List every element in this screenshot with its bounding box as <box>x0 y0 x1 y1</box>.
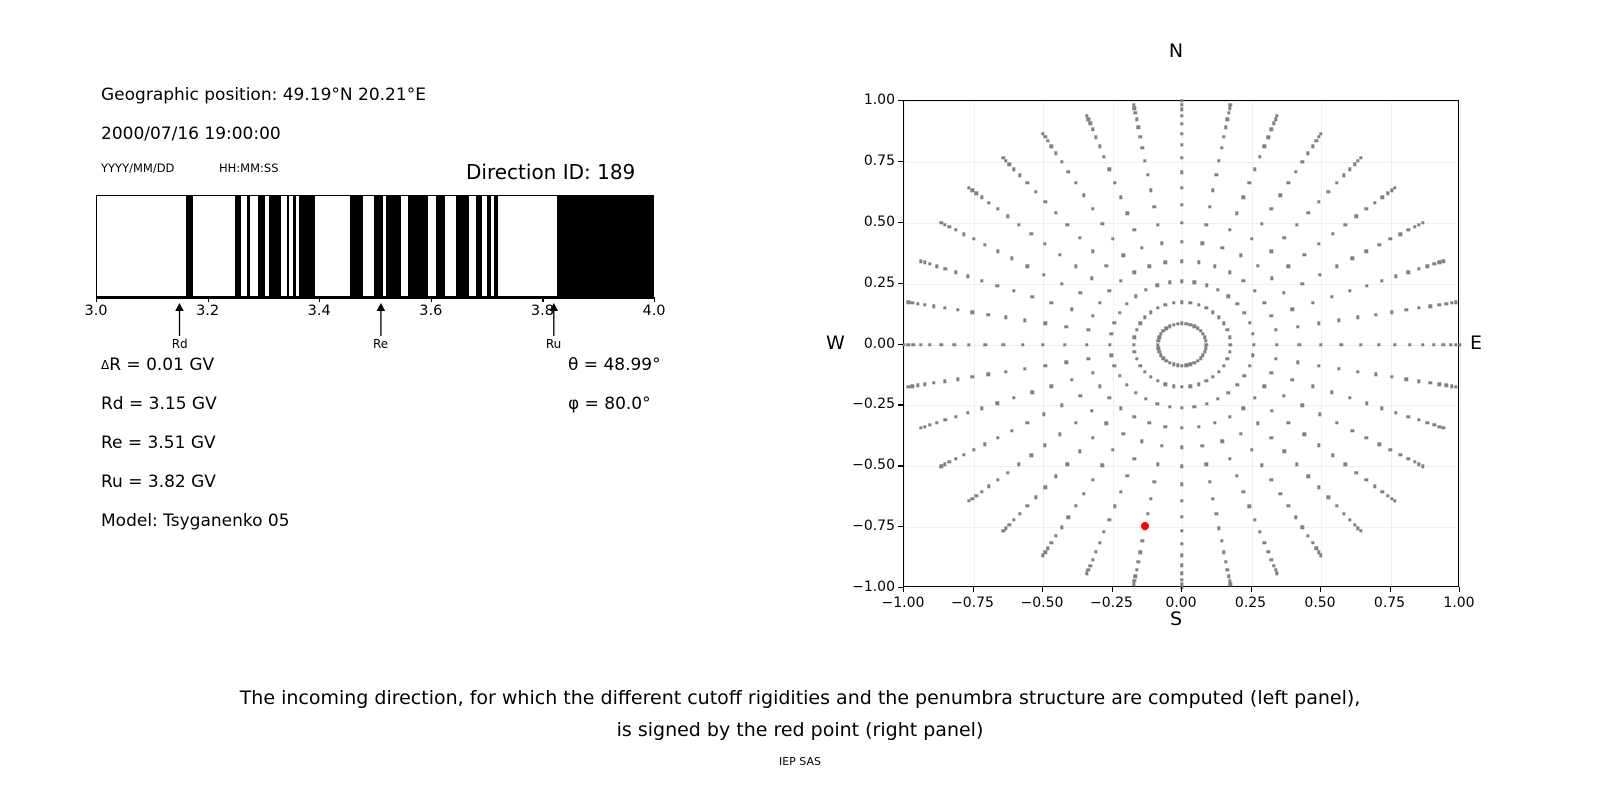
direction-point <box>1180 186 1183 189</box>
direction-point <box>1228 228 1231 231</box>
direction-point <box>1042 413 1045 416</box>
direction-point <box>1050 541 1053 544</box>
direction-point <box>1074 265 1077 268</box>
direction-point <box>1433 262 1436 265</box>
direction-point <box>1041 132 1044 135</box>
penumbra-marker-rd: Rd <box>172 303 188 351</box>
direction-point <box>983 443 986 446</box>
direction-point <box>943 463 946 466</box>
gridline-horizontal <box>904 162 1458 163</box>
y-axis-tick <box>898 587 903 588</box>
y-axis-tick-label: 0.50 <box>841 214 895 230</box>
y-axis-tick-label: −1.00 <box>841 579 895 595</box>
direction-point <box>975 192 978 195</box>
direction-point <box>1291 308 1294 311</box>
direction-point <box>940 221 943 224</box>
x-axis-tick <box>973 587 974 592</box>
direction-point <box>1060 525 1063 528</box>
caption-line-1: The incoming direction, for which the di… <box>0 682 1600 714</box>
direction-point <box>1220 439 1223 442</box>
up-arrow-icon <box>548 303 559 336</box>
direction-point <box>1153 480 1156 483</box>
direction-point <box>1125 383 1128 386</box>
direction-point <box>1113 181 1116 184</box>
direction-point <box>1386 192 1389 195</box>
direction-point <box>972 448 975 451</box>
direction-point <box>940 343 943 346</box>
penumbra-tick <box>542 297 543 302</box>
direction-point <box>1222 550 1225 553</box>
direction-point <box>980 196 983 199</box>
direction-point <box>1118 374 1121 377</box>
direction-point <box>1091 314 1094 317</box>
direction-point <box>1390 375 1393 378</box>
direction-point <box>954 228 957 231</box>
direction-point <box>1091 250 1094 253</box>
direction-point <box>1149 310 1152 313</box>
direction-point <box>1026 421 1029 424</box>
direction-point <box>1138 550 1141 553</box>
direction-point <box>1058 433 1061 436</box>
direction-point <box>1432 343 1435 346</box>
direction-point <box>1421 465 1424 468</box>
direction-point <box>1091 128 1094 131</box>
penumbra-tick <box>208 297 209 302</box>
direction-point <box>1149 497 1152 500</box>
direction-point <box>1216 397 1219 400</box>
direction-point <box>1365 402 1368 405</box>
direction-point <box>1421 221 1424 224</box>
direction-point <box>1222 135 1225 138</box>
direction-point <box>1243 374 1246 377</box>
direction-point <box>1270 250 1273 253</box>
direction-point <box>1208 205 1211 208</box>
direction-point <box>1248 364 1251 367</box>
direction-point <box>1098 541 1101 544</box>
direction-point <box>1426 265 1429 268</box>
direction-point <box>1239 432 1242 435</box>
y-axis-tick-label: 0.25 <box>841 275 895 291</box>
direction-point <box>1351 257 1354 260</box>
direction-point <box>996 284 999 287</box>
direction-point <box>1087 117 1090 120</box>
direction-point <box>1133 271 1136 274</box>
direction-point <box>971 375 974 378</box>
footer-label: IEP SAS <box>0 755 1600 768</box>
direction-point <box>1180 364 1183 367</box>
direction-point <box>1211 375 1214 378</box>
penumbra-chart <box>96 195 654 297</box>
y-axis-tick-label: −0.25 <box>841 396 895 412</box>
direction-point <box>1113 505 1116 508</box>
direction-point <box>943 379 946 382</box>
x-axis-tick-label: −1.00 <box>882 595 925 611</box>
direction-point <box>1204 379 1207 382</box>
direction-point <box>935 265 938 268</box>
direction-point <box>996 207 999 210</box>
direction-point <box>1034 496 1037 499</box>
direction-point <box>1413 225 1416 228</box>
caption-line-2: is signed by the red point (right panel) <box>0 714 1600 746</box>
direction-point <box>1373 201 1376 204</box>
direction-point <box>1378 243 1381 246</box>
direction-point <box>1228 107 1231 110</box>
direction-point <box>1287 421 1290 424</box>
direction-point <box>1343 223 1346 226</box>
direction-point <box>1063 343 1066 346</box>
direction-point <box>1113 364 1116 367</box>
direction-point <box>1143 370 1146 373</box>
direction-point <box>972 237 975 240</box>
direction-point <box>948 460 951 463</box>
direction-point <box>907 301 910 304</box>
gridline-vertical <box>974 101 975 586</box>
direction-point <box>1134 574 1137 577</box>
direction-point <box>932 304 935 307</box>
direction-point <box>1390 310 1393 313</box>
direction-point <box>1119 490 1122 493</box>
direction-point <box>1094 135 1097 138</box>
direction-point <box>1156 284 1159 287</box>
direction-point <box>1270 371 1273 374</box>
direction-point <box>1026 181 1029 184</box>
direction-point <box>1107 168 1110 171</box>
direction-point <box>1164 383 1167 386</box>
direction-point <box>1002 529 1005 532</box>
direction-point <box>1315 546 1318 549</box>
direction-point <box>1196 359 1199 362</box>
direction-point <box>928 262 931 265</box>
sky-map-panel: N S W E −1.00−0.75−0.50−0.250.000.250.50… <box>820 40 1520 660</box>
penumbra-band <box>235 196 241 296</box>
direction-point <box>1180 482 1183 485</box>
direction-point <box>1317 364 1320 367</box>
direction-point <box>1168 361 1171 364</box>
direction-point <box>1260 222 1263 225</box>
datetime-label: 2000/07/16 19:00:00 <box>101 124 281 144</box>
direction-point <box>1082 492 1085 495</box>
direction-point <box>1235 474 1238 477</box>
direction-point <box>1356 316 1359 319</box>
direction-point <box>1091 558 1094 561</box>
gridline-vertical <box>1113 101 1114 586</box>
selected-direction-point[interactable] <box>1141 522 1149 530</box>
direction-point <box>1164 425 1167 428</box>
direction-point <box>1180 499 1183 502</box>
direction-point <box>1331 453 1334 456</box>
direction-point <box>1386 494 1389 497</box>
direction-point <box>1241 196 1244 199</box>
direction-point <box>984 343 987 346</box>
direction-point <box>1180 99 1183 102</box>
direction-point <box>980 490 983 493</box>
direction-point <box>1283 236 1286 239</box>
direction-point <box>1109 332 1112 335</box>
direction-point <box>1070 378 1073 381</box>
direction-point <box>1041 554 1044 557</box>
x-axis-tick <box>1459 587 1460 592</box>
direction-point <box>1211 497 1214 500</box>
direction-point <box>1085 114 1088 117</box>
direction-point <box>1008 523 1011 526</box>
direction-point <box>1050 384 1053 387</box>
direction-point <box>1220 539 1223 542</box>
x-axis-tick <box>1251 587 1252 592</box>
direction-point <box>1343 463 1346 466</box>
direction-point <box>1204 463 1207 466</box>
direction-point <box>1393 186 1396 189</box>
direction-point <box>1417 379 1420 382</box>
direction-point <box>1380 490 1383 493</box>
y-axis-tick <box>898 526 903 527</box>
ru-value: Ru = 3.82 GV <box>101 472 216 492</box>
direction-point <box>1241 407 1244 410</box>
model-value: Model: Tsyganenko 05 <box>101 511 290 531</box>
direction-point <box>1307 475 1310 478</box>
direction-point <box>1098 301 1101 304</box>
direction-point <box>1180 156 1183 159</box>
penumbra-tick-label: 3.0 <box>84 303 107 319</box>
direction-point <box>944 418 947 421</box>
x-axis-tick <box>1390 587 1391 592</box>
direction-point <box>1442 343 1445 346</box>
direction-point <box>1256 264 1259 267</box>
direction-point <box>1180 301 1183 304</box>
direction-point <box>1365 436 1368 439</box>
direction-point <box>1066 516 1069 519</box>
direction-point <box>1258 530 1261 533</box>
direction-point <box>1132 103 1135 106</box>
direction-point <box>1266 135 1269 138</box>
direction-point <box>1180 515 1183 518</box>
direction-point <box>966 411 969 414</box>
direction-point <box>1282 394 1285 397</box>
direction-point <box>1229 103 1232 106</box>
direction-point <box>1133 107 1136 110</box>
direction-point <box>1109 354 1112 357</box>
direction-point <box>1317 200 1320 203</box>
direction-point <box>1140 439 1143 442</box>
direction-id-label: Direction ID: 189 <box>466 160 635 184</box>
direction-point <box>1180 578 1183 581</box>
direction-point <box>1287 504 1290 507</box>
direction-point <box>1260 464 1263 467</box>
penumbra-tick <box>431 297 432 302</box>
penumbra-tick <box>319 297 320 302</box>
penumbra-band <box>247 196 250 296</box>
direction-point <box>1122 254 1125 257</box>
direction-point <box>1149 189 1152 192</box>
direction-point <box>1180 203 1183 206</box>
direction-point <box>1433 423 1436 426</box>
direction-point <box>1426 421 1429 424</box>
date-format-hint: YYYY/MM/DD <box>101 161 174 175</box>
compass-north-label: N <box>1169 40 1183 62</box>
direction-point <box>1018 174 1021 177</box>
direction-point <box>1442 426 1445 429</box>
up-arrow-icon <box>174 303 185 336</box>
direction-point <box>1407 228 1410 231</box>
direction-point <box>935 421 938 424</box>
direction-point <box>1275 343 1278 346</box>
penumbra-band <box>557 196 654 296</box>
direction-point <box>1287 265 1290 268</box>
direction-point <box>1222 364 1225 367</box>
direction-point <box>1074 181 1077 184</box>
direction-point <box>1180 114 1183 117</box>
direction-point <box>1438 303 1441 306</box>
direction-point <box>967 343 970 346</box>
direction-point <box>1102 530 1105 533</box>
penumbra-band <box>350 196 363 296</box>
direction-point <box>1428 381 1431 384</box>
compass-south-label: S <box>1170 608 1182 630</box>
penumbra-band-track <box>96 195 654 297</box>
direction-point <box>1355 471 1358 474</box>
direction-point <box>1042 273 1045 276</box>
direction-point <box>1307 211 1310 214</box>
direction-point <box>1133 350 1136 353</box>
direction-point <box>1294 170 1297 173</box>
direction-point <box>1006 471 1009 474</box>
direction-point <box>987 313 990 316</box>
direction-point <box>1135 328 1138 331</box>
direction-point <box>944 267 947 270</box>
direction-point <box>1239 254 1242 257</box>
direction-point <box>1405 308 1408 311</box>
direction-point <box>1146 173 1149 176</box>
direction-point <box>1146 512 1149 515</box>
direction-point <box>1138 135 1141 138</box>
direction-point <box>1101 222 1104 225</box>
direction-point <box>1004 370 1007 373</box>
direction-point <box>1378 443 1381 446</box>
direction-point <box>1301 525 1304 528</box>
direction-point <box>975 494 978 497</box>
penumbra-tick-label: 3.6 <box>419 303 442 319</box>
direction-point <box>1251 354 1254 357</box>
direction-point <box>1342 174 1345 177</box>
gridline-horizontal <box>904 527 1458 528</box>
penumbra-marker-label: Ru <box>546 337 561 351</box>
direction-point <box>1454 343 1457 346</box>
direction-point <box>1143 159 1146 162</box>
direction-point <box>1018 512 1021 515</box>
direction-point <box>1043 364 1046 367</box>
direction-point <box>1217 316 1220 319</box>
direction-point <box>1306 152 1309 155</box>
penumbra-band <box>436 196 445 296</box>
direction-point <box>1085 343 1088 346</box>
direction-point <box>1156 463 1159 466</box>
direction-point <box>1243 311 1246 314</box>
direction-point <box>1189 363 1192 366</box>
direction-point <box>1197 425 1200 428</box>
direction-point <box>1248 321 1251 324</box>
direction-point <box>1180 108 1183 111</box>
direction-point <box>1060 404 1063 407</box>
direction-point <box>1317 443 1320 446</box>
direction-point <box>966 275 969 278</box>
direction-point <box>1125 302 1128 305</box>
direction-point <box>1091 478 1094 481</box>
direction-point <box>1228 335 1231 338</box>
y-axis-tick-label: 0.00 <box>841 336 895 352</box>
direction-point <box>996 402 999 405</box>
direction-point <box>1407 457 1410 460</box>
direction-point <box>1272 122 1275 125</box>
direction-point <box>1021 343 1024 346</box>
direction-point <box>1107 289 1110 292</box>
direction-point <box>1306 534 1309 537</box>
rd-value: Rd = 3.15 GV <box>101 394 217 414</box>
direction-point <box>1119 407 1122 410</box>
direction-point <box>1133 457 1136 460</box>
direction-point <box>1079 394 1082 397</box>
direction-point <box>1270 409 1273 412</box>
direction-point <box>1380 196 1383 199</box>
gridline-vertical <box>1391 101 1392 586</box>
direction-point <box>1135 117 1138 120</box>
direction-point <box>1266 550 1269 553</box>
direction-point <box>1211 189 1214 192</box>
direction-point <box>1217 526 1220 529</box>
direction-point <box>1217 370 1220 373</box>
direction-point <box>962 232 965 235</box>
direction-point <box>1102 155 1105 158</box>
direction-point <box>1041 343 1044 346</box>
x-axis-tick-label: −0.50 <box>1021 595 1064 611</box>
x-axis-tick <box>903 587 904 592</box>
direction-point <box>1283 450 1286 453</box>
direction-point <box>1148 265 1151 268</box>
direction-point <box>1126 474 1129 477</box>
direction-point <box>1156 402 1159 405</box>
geographic-position-label: Geographic position: 49.19°N 20.21°E <box>101 85 426 105</box>
direction-point <box>1156 339 1159 342</box>
direction-point <box>1172 384 1175 387</box>
direction-point <box>940 465 943 468</box>
direction-point <box>1398 232 1401 235</box>
direction-point <box>1301 282 1304 285</box>
compass-east-label: E <box>1470 332 1482 354</box>
direction-point <box>1393 499 1396 502</box>
direction-point <box>971 189 974 192</box>
direction-point <box>1318 413 1321 416</box>
direction-point <box>987 201 990 204</box>
direction-point <box>1428 304 1431 307</box>
direction-point <box>1046 139 1049 142</box>
direction-point <box>1356 370 1359 373</box>
direction-point <box>1227 295 1230 298</box>
y-axis-tick-label: 0.75 <box>841 153 895 169</box>
direction-point <box>1180 465 1183 468</box>
direction-point <box>1030 232 1033 235</box>
direction-point <box>1226 357 1229 360</box>
direction-point <box>1319 132 1322 135</box>
direction-point <box>1079 291 1082 294</box>
direction-point <box>1105 264 1108 267</box>
direction-point <box>1417 267 1420 270</box>
direction-point <box>1205 284 1208 287</box>
direction-point <box>1012 289 1015 292</box>
direction-point <box>1438 261 1441 264</box>
direction-point <box>1017 463 1020 466</box>
direction-point <box>1180 446 1183 449</box>
direction-point <box>1353 163 1356 166</box>
direction-point <box>1141 539 1144 542</box>
direction-point <box>1164 303 1167 306</box>
